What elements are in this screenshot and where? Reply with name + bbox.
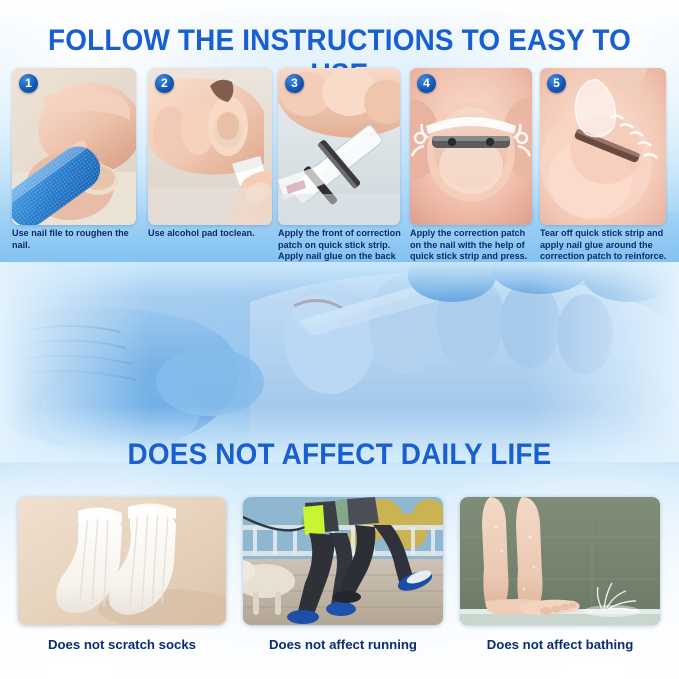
step-4: 4 Apply the correction patch on the nail… — [410, 68, 532, 225]
daily-life-caption-socks: Does not scratch socks — [18, 637, 226, 652]
daily-life-title: DOES NOT AFFECT DAILY LIFE — [24, 438, 655, 472]
step-4-badge: 4 — [417, 74, 436, 93]
infographic-page: FOLLOW THE INSTRUCTIONS TO EASY TO USE — [0, 0, 679, 679]
step-2-image: 2 — [148, 68, 272, 225]
step-4-caption: Apply the correction patch on the nail w… — [410, 228, 536, 263]
step-3: 3 Apply the front of correction patch on… — [278, 68, 400, 225]
step-3-badge: 3 — [285, 74, 304, 93]
step-1-image: 1 — [12, 68, 136, 225]
step-3-image: 3 — [278, 68, 400, 225]
step-1: 1 Use nail file to roughen the nail. — [12, 68, 136, 225]
daily-life-row — [0, 497, 679, 627]
daily-life-caption-running: Does not affect running — [243, 637, 443, 652]
steps-row: 1 Use nail file to roughen the nail. — [0, 68, 679, 228]
step-5-badge: 5 — [547, 74, 566, 93]
daily-life-image-socks — [18, 497, 226, 625]
step-4-image: 4 — [410, 68, 532, 225]
step-1-badge: 1 — [19, 74, 38, 93]
hero-edge-fade — [0, 262, 679, 462]
step-1-caption: Use nail file to roughen the nail. — [12, 228, 138, 251]
step-2-caption: Use alcohol pad toclean. — [148, 228, 274, 240]
step-5-caption: Tear off quick stick strip and apply nai… — [540, 228, 672, 263]
daily-life-caption-bathing: Does not affect bathing — [460, 637, 660, 652]
step-2: 2 Use alcohol pad toclean. — [148, 68, 272, 225]
step-5-image: 5 — [540, 68, 666, 225]
daily-life-image-bathing — [460, 497, 660, 625]
step-2-badge: 2 — [155, 74, 174, 93]
daily-life-image-running — [243, 497, 443, 625]
hero-banner — [0, 262, 679, 462]
step-5: 5 Tear off quick stick strip and apply n… — [540, 68, 666, 225]
